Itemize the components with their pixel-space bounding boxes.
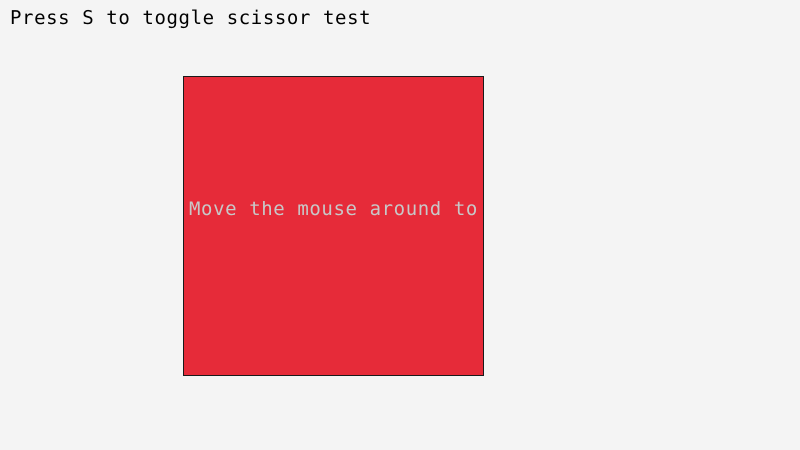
scissor-rectangle[interactable]: Move the mouse around to reveal this tex…	[183, 76, 484, 376]
scissor-toggle-hint: Press S to toggle scissor test	[10, 7, 371, 29]
clipped-message-text: Move the mouse around to reveal this tex…	[189, 198, 484, 220]
scissor-test-canvas: Press S to toggle scissor test Move the …	[0, 0, 800, 450]
